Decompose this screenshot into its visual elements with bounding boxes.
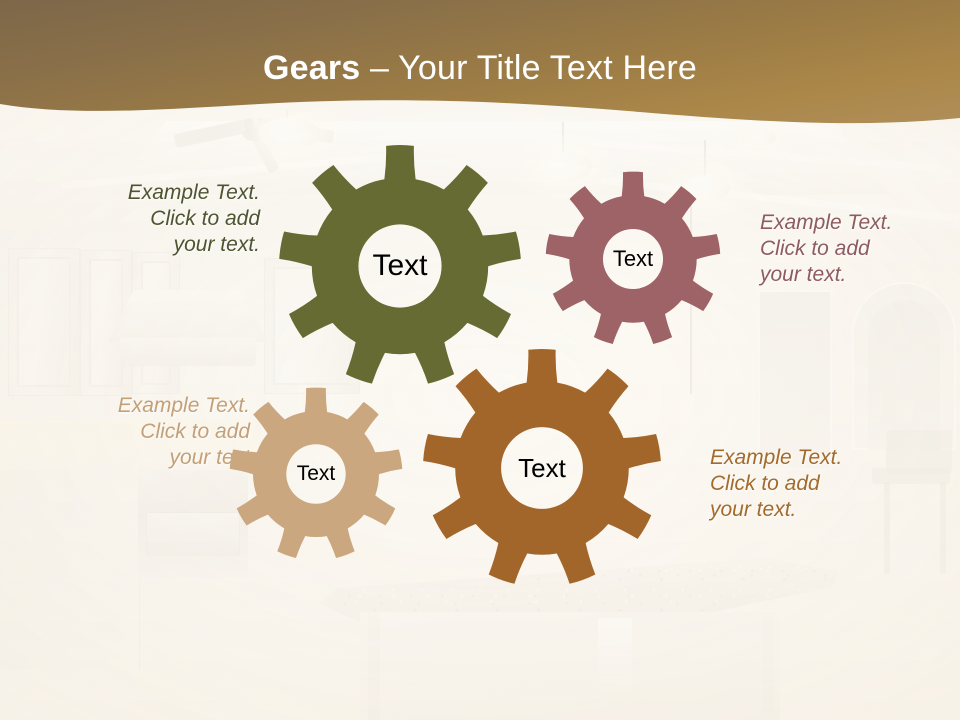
slide-canvas: Gears – Your Title Text Here Example Tex… [0,0,960,720]
gear-rose-shape[interactable] [542,168,724,350]
page-title-rest: – Your Title Text Here [360,49,697,87]
gear-tan[interactable]: Text [226,384,406,564]
gear-brown[interactable]: Text [418,344,666,592]
callout-text-bottom-left[interactable]: Example Text. Click to add your text [55,393,250,471]
page-title-strong: Gears [263,49,360,87]
callout-text-bottom-right[interactable]: Example Text. Click to add your text. [710,445,920,523]
gear-rose[interactable]: Text [542,168,724,350]
gear-brown-shape[interactable] [418,344,666,592]
page-title: Gears – Your Title Text Here [0,48,960,88]
callout-text-top-left[interactable]: Example Text. Click to add your text. [60,180,260,258]
gear-tan-shape[interactable] [226,384,406,564]
callout-text-top-right[interactable]: Example Text. Click to add your text. [760,210,960,288]
